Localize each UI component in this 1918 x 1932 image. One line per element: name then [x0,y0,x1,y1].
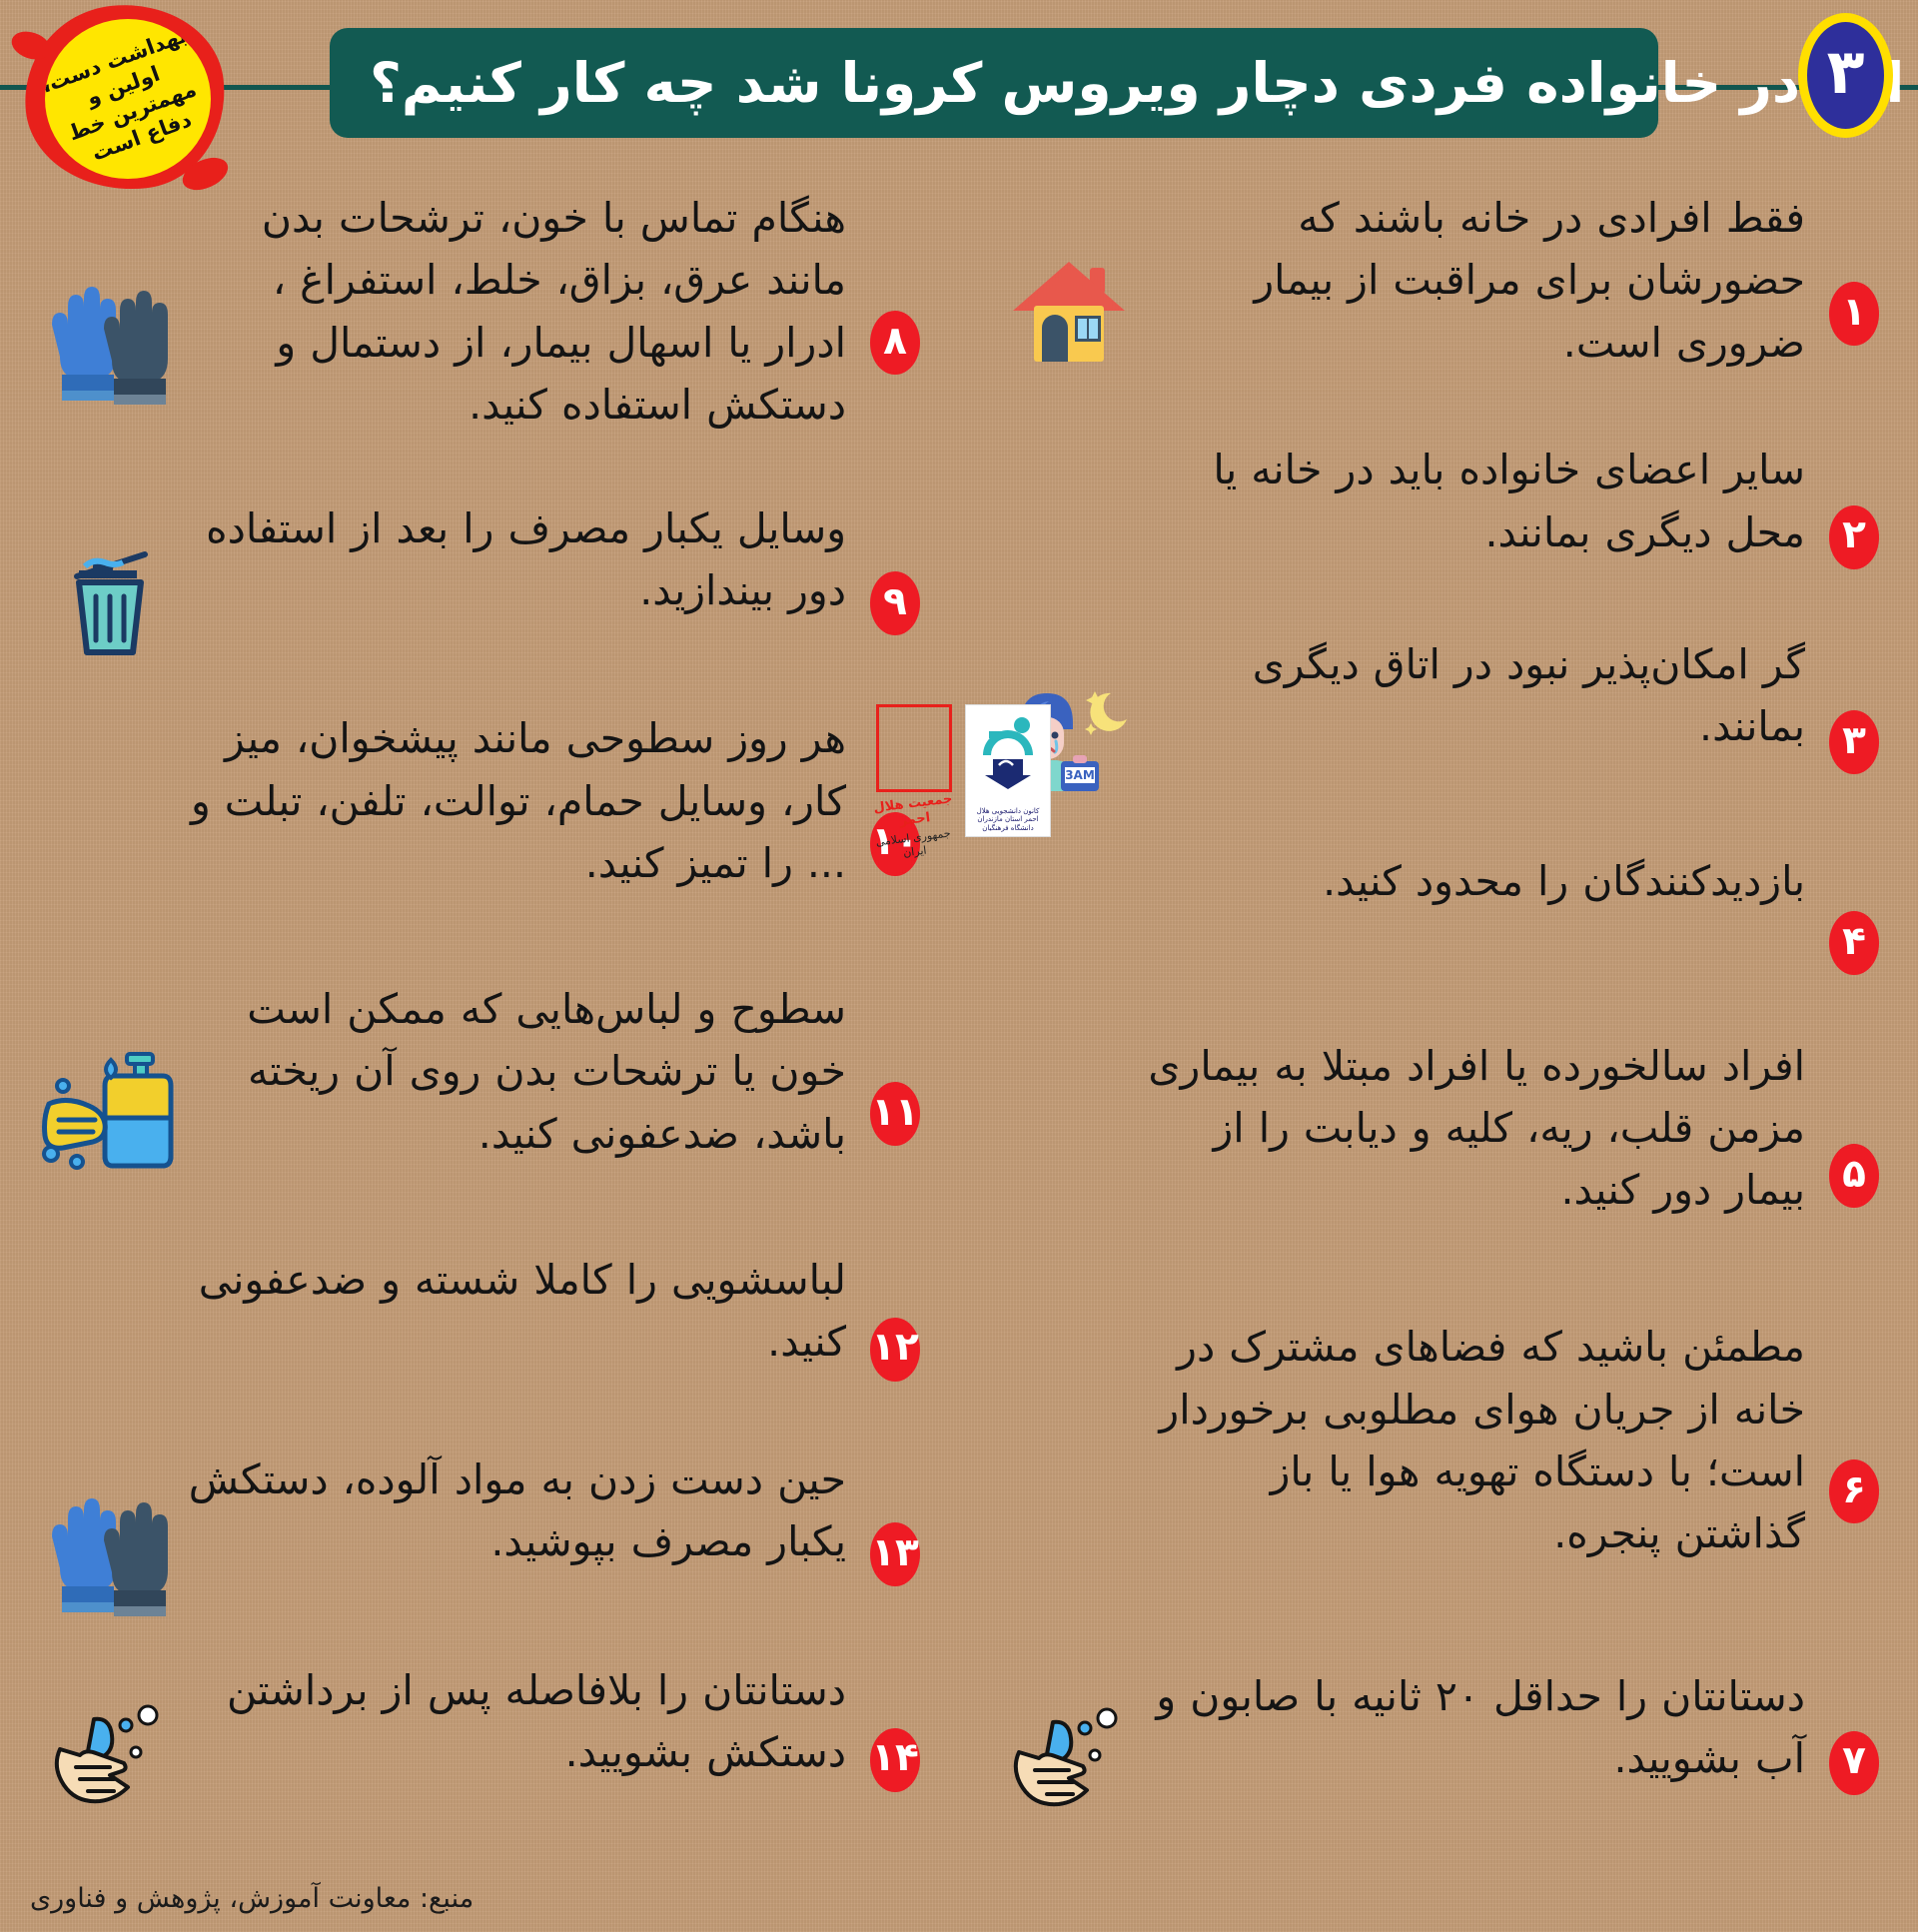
stamp-text: بهداشت دست، اولین و مهمترین خط دفاع است [45,20,211,178]
handwash-icon [994,1700,1144,1820]
item-number-group: ۷ [1805,1663,1883,1857]
guideline-item: ۷دستانتان را حداقل ۲۰ ثانیه با صابون و آ… [994,1663,1883,1857]
item-number-badge: ۷ [1829,1731,1879,1795]
gloves-icon [35,1484,185,1619]
item-number-badge: ۲ [1829,505,1879,569]
handwash-icon [35,1697,185,1817]
guideline-item: ۹وسایل یکبار مصرف را بعد از استفاده دور … [35,495,924,706]
guideline-item: ۱۳حین دست زدن به مواد آلوده، دستکش یکبار… [35,1447,924,1657]
item-number-group: ۶ [1805,1314,1883,1663]
trash-icon [35,538,185,663]
university-emblem-icon [969,709,1047,801]
item-number-value: ۳ [1842,721,1866,760]
university-logo: کانون دانشجویی هلال احمر استان مازندران … [965,704,1051,837]
stamp-disc: بهداشت دست، اولین و مهمترین خط دفاع است [45,19,211,179]
item-text: حین دست زدن به مواد آلوده، دستکش یکبار م… [185,1447,846,1573]
item-number-group: ۱۴ [846,1657,924,1857]
content-columns: ۸هنگام تماس با خون، ترشحات بدن مانند عرق… [0,185,1918,1857]
item-text: افراد سالخورده یا افراد مبتلا به بیماری … [1144,1033,1805,1222]
item-number-value: ۱۴ [871,1738,919,1777]
red-crescent-icon [886,713,946,787]
guideline-item: ۶مطمئن باشید که فضاهای مشترک در خانه از … [994,1314,1883,1663]
hand-hygiene-stamp: بهداشت دست، اولین و مهمترین خط دفاع است [25,5,225,190]
item-text: گر امکان‌پذیر نبود در اتاق دیگری بمانند. [1144,631,1805,758]
item-number-group: ۹ [846,495,924,706]
item-text: دستانتان را حداقل ۲۰ ثانیه با صابون و آب… [1144,1663,1805,1790]
guideline-item: ۱۲لباسشویی را کاملا شسته و ضدعفونی کنید. [35,1247,924,1447]
item-number-badge: ۶ [1829,1459,1879,1523]
item-number-badge: ۱۱ [870,1082,920,1146]
item-number-group: ۳ [1805,631,1883,849]
item-text: لباسشویی را کاملا شسته و ضدعفونی کنید. [185,1247,846,1374]
item-number-badge: ۸ [870,311,920,375]
red-crescent-box [876,704,952,792]
header-bar: اگر در خانواده فردی دچار ویروس کرونا شد … [330,28,1658,138]
item-number-group: ۱۱ [846,976,924,1247]
organization-logos: کانون دانشجویی هلال احمر استان مازندران … [861,704,1051,884]
guideline-item: ۸هنگام تماس با خون، ترشحات بدن مانند عرق… [35,185,924,495]
item-number-value: ۱ [1842,293,1866,332]
item-text: بازدیدکنندگان را محدود کنید. [1144,848,1805,912]
badge-inner: ۳ [1807,22,1884,129]
item-number-value: ۸ [883,322,907,361]
house-icon [994,254,1144,369]
item-text: سطوح و لباس‌هایی که ممکن است خون یا ترشح… [185,976,846,1165]
guideline-item: ۳گر امکان‌پذیر نبود در اتاق دیگری بمانند… [994,631,1883,849]
item-number-badge: ۹ [870,571,920,635]
item-number-group: ۴ [1805,848,1883,1032]
item-number-group: ۱۲ [846,1247,924,1447]
source-footer: منبع: معاونت آموزش، پژوهش و فناوری [30,1883,474,1914]
item-text: وسایل یکبار مصرف را بعد از استفاده دور ب… [185,495,846,622]
page-number-badge: ۳ [1798,13,1893,138]
item-number-group: ۱ [1805,185,1883,437]
sanitizer-icon [35,1046,185,1176]
item-text: هر روز سطوحی مانند پیشخوان، میز کار، وسا… [185,705,846,894]
item-number-value: ۷ [1842,1741,1866,1780]
item-text: فقط افرادی در خانه باشند که حضورشان برای… [1144,185,1805,374]
svg-text:3AM: 3AM [1065,768,1095,782]
gloves-icon [35,273,185,408]
item-number-group: ۸ [846,185,924,495]
red-crescent-logo: جمعیت هلال احمر جمهوری اسلامی ایران [873,704,955,858]
item-number-badge: ۵ [1829,1144,1879,1208]
item-number-value: ۶ [1842,1470,1866,1509]
item-number-value: ۴ [1842,922,1866,961]
item-number-group: ۱۳ [846,1447,924,1657]
column-items-8-14: ۸هنگام تماس با خون، ترشحات بدن مانند عرق… [0,185,959,1857]
item-number-value: ۲ [1842,515,1866,554]
page-title: اگر در خانواده فردی دچار ویروس کرونا شد … [370,56,1904,111]
item-number-value: ۱۳ [871,1533,919,1572]
item-number-group: ۲ [1805,437,1883,630]
item-number-value: ۱۲ [871,1328,919,1367]
item-number-value: ۹ [883,582,907,621]
item-number-badge: ۳ [1829,710,1879,774]
item-text: هنگام تماس با خون، ترشحات بدن مانند عرق،… [185,185,846,436]
item-number-badge: ۱۳ [870,1522,920,1586]
guideline-item: ۱۴دستانتان را بلافاصله پس از برداشتن دست… [35,1657,924,1857]
guideline-item: ۴بازدیدکنندگان را محدود کنید. [994,848,1883,1032]
item-text: سایر اعضای خانواده باید در خانه یا محل د… [1144,437,1805,563]
item-number-badge: ۱ [1829,282,1879,346]
guideline-item: ۱۰هر روز سطوحی مانند پیشخوان، میز کار، و… [35,705,924,976]
guideline-item: ۲سایر اعضای خانواده باید در خانه یا محل … [994,437,1883,630]
item-text: دستانتان را بلافاصله پس از برداشتن دستکش… [185,1657,846,1784]
item-number-badge: ۴ [1829,911,1879,975]
item-number-group: ۵ [1805,1033,1883,1315]
column-items-1-7: ۱فقط افرادی در خانه باشند که حضورشان برا… [959,185,1918,1857]
university-logo-caption: کانون دانشجویی هلال احمر استان مازندران … [969,807,1047,832]
item-text: مطمئن باشید که فضاهای مشترک در خانه از ج… [1144,1314,1805,1564]
guideline-item: ۱فقط افرادی در خانه باشند که حضورشان برا… [994,185,1883,437]
item-number-badge: ۱۴ [870,1728,920,1792]
page-number-value: ۳ [1827,41,1865,103]
guideline-item: ۱۱سطوح و لباس‌هایی که ممکن است خون یا تر… [35,976,924,1247]
item-number-badge: ۱۲ [870,1318,920,1382]
item-number-value: ۱۱ [871,1093,919,1132]
guideline-item: ۵افراد سالخورده یا افراد مبتلا به بیماری… [994,1033,1883,1315]
item-number-value: ۵ [1842,1155,1866,1194]
